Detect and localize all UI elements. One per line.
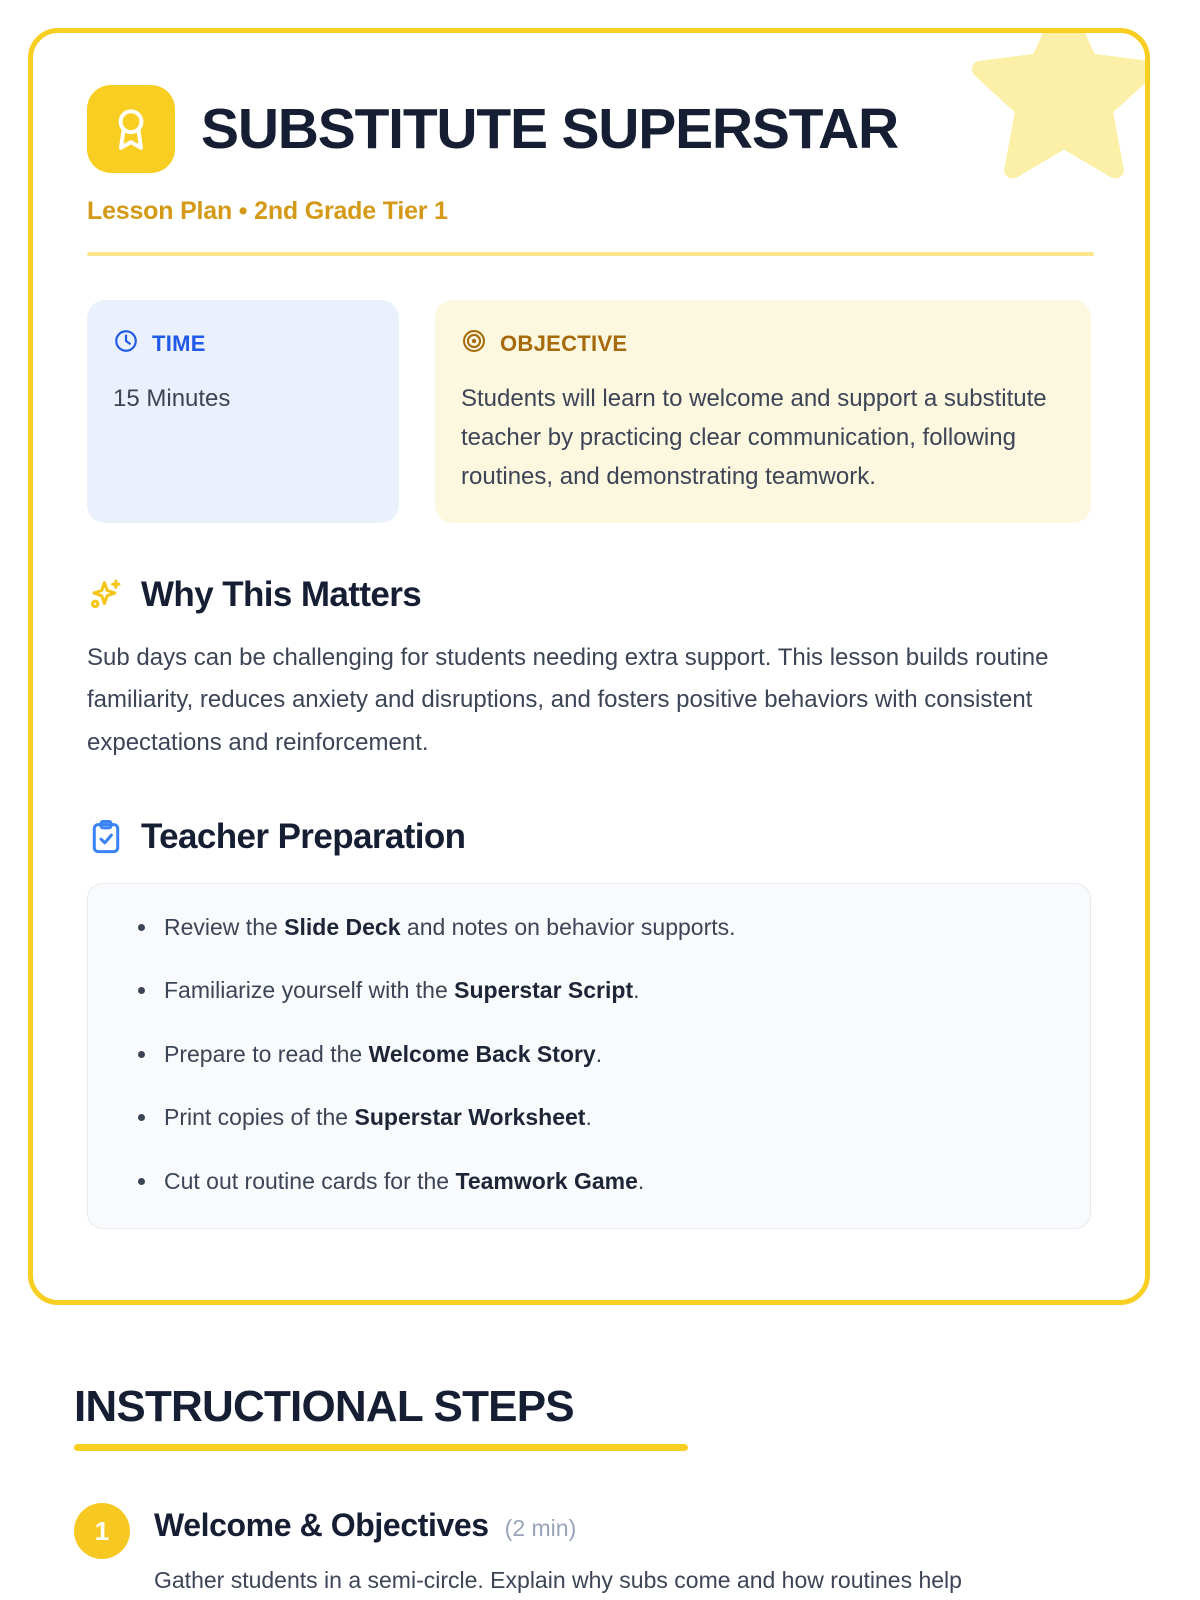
step-description: Gather students in a semi-circle. Explai… bbox=[154, 1562, 962, 1599]
instructional-steps-heading: INSTRUCTIONAL STEPS bbox=[74, 1382, 1134, 1432]
list-item-highlight: Slide Deck bbox=[284, 914, 400, 940]
why-this-matters-heading-row: Why This Matters bbox=[87, 575, 1091, 615]
instructional-steps-underline bbox=[74, 1444, 688, 1451]
meta-cards-row: TIME 15 Minutes OBJECTIVE bbox=[87, 300, 1091, 523]
target-icon bbox=[461, 328, 487, 360]
step-heading: Welcome & Objectives(2 min) bbox=[154, 1507, 962, 1544]
why-this-matters-paragraph: Sub days can be challenging for students… bbox=[87, 637, 1087, 765]
list-item-text-tail: . bbox=[585, 1104, 591, 1130]
award-ribbon-icon bbox=[87, 85, 175, 173]
time-card: TIME 15 Minutes bbox=[87, 300, 399, 523]
list-item-text: Print copies of the bbox=[164, 1104, 355, 1130]
lesson-plan-page: SUBSTITUTE SUPERSTAR Lesson Plan • 2nd G… bbox=[0, 0, 1200, 1600]
objective-card: OBJECTIVE Students will learn to welcome… bbox=[435, 300, 1091, 523]
list-item-text: Familiarize yourself with the bbox=[164, 977, 454, 1003]
list-item-text: Review the bbox=[164, 914, 284, 940]
instructional-steps-list: 1Welcome & Objectives(2 min)Gather stude… bbox=[74, 1503, 1134, 1599]
step-title: Welcome & Objectives bbox=[154, 1507, 489, 1544]
clock-icon bbox=[113, 328, 139, 360]
teacher-preparation-heading-row: Teacher Preparation bbox=[87, 817, 1091, 857]
why-this-matters-heading: Why This Matters bbox=[141, 575, 421, 615]
step-number-badge: 1 bbox=[74, 1503, 130, 1559]
list-item-highlight: Superstar Worksheet bbox=[355, 1104, 586, 1130]
time-card-header: TIME bbox=[113, 328, 373, 360]
list-item: Review the Slide Deck and notes on behav… bbox=[122, 910, 1056, 945]
list-item-text-tail: and notes on behavior supports. bbox=[401, 914, 736, 940]
objective-card-label: OBJECTIVE bbox=[500, 331, 627, 357]
list-item-text-tail: . bbox=[596, 1041, 602, 1067]
teacher-preparation-list: Review the Slide Deck and notes on behav… bbox=[122, 910, 1056, 1199]
time-card-value: 15 Minutes bbox=[113, 380, 373, 419]
time-card-label: TIME bbox=[152, 331, 206, 357]
objective-card-header: OBJECTIVE bbox=[461, 328, 1065, 360]
page-subtitle: Lesson Plan • 2nd Grade Tier 1 bbox=[87, 197, 1091, 226]
list-item-text-tail: . bbox=[633, 977, 639, 1003]
list-item: Print copies of the Superstar Worksheet. bbox=[122, 1100, 1056, 1135]
step-content: Welcome & Objectives(2 min)Gather studen… bbox=[154, 1503, 962, 1599]
lesson-overview-card: SUBSTITUTE SUPERSTAR Lesson Plan • 2nd G… bbox=[28, 28, 1150, 1305]
page-title: SUBSTITUTE SUPERSTAR bbox=[201, 100, 898, 158]
objective-card-value: Students will learn to welcome and suppo… bbox=[461, 380, 1065, 497]
teacher-preparation-heading: Teacher Preparation bbox=[141, 817, 465, 857]
list-item: Cut out routine cards for the Teamwork G… bbox=[122, 1164, 1056, 1199]
list-item-highlight: Teamwork Game bbox=[456, 1168, 638, 1194]
list-item-text: Prepare to read the bbox=[164, 1041, 369, 1067]
list-item-text-tail: . bbox=[638, 1168, 644, 1194]
teacher-preparation-box: Review the Slide Deck and notes on behav… bbox=[87, 883, 1091, 1230]
header-title-row: SUBSTITUTE SUPERSTAR bbox=[87, 85, 1091, 173]
list-item-highlight: Superstar Script bbox=[454, 977, 633, 1003]
header-divider bbox=[87, 252, 1094, 256]
list-item-highlight: Welcome Back Story bbox=[369, 1041, 596, 1067]
clipboard-check-icon bbox=[87, 818, 125, 856]
instructional-step: 1Welcome & Objectives(2 min)Gather stude… bbox=[74, 1503, 1134, 1599]
list-item: Familiarize yourself with the Superstar … bbox=[122, 973, 1056, 1008]
list-item-text: Cut out routine cards for the bbox=[164, 1168, 456, 1194]
list-item: Prepare to read the Welcome Back Story. bbox=[122, 1037, 1056, 1072]
sparkles-icon bbox=[87, 576, 125, 614]
step-duration: (2 min) bbox=[505, 1515, 577, 1542]
instructional-steps-section: INSTRUCTIONAL STEPS 1Welcome & Objective… bbox=[74, 1382, 1134, 1599]
